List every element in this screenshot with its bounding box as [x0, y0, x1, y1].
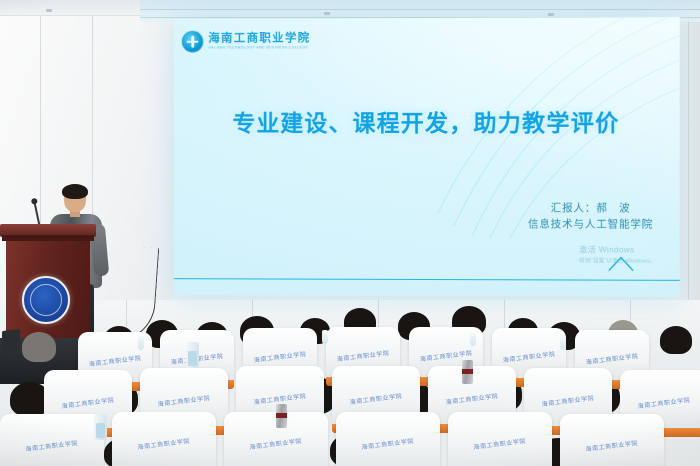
- org-name-en: HAI NAN TECHNOLOGY AND BUSINESS COLLEGE: [208, 46, 310, 50]
- seat-cover-text: 海南工商职业学院: [147, 391, 221, 409]
- water-bottle: [138, 336, 144, 350]
- podium-lip: [2, 235, 94, 241]
- wall-seam: [688, 16, 689, 316]
- audience-seat: 海南工商职业学院: [0, 414, 104, 466]
- water-bottle: [470, 332, 476, 346]
- ceiling-sprinkler-icon: [324, 12, 330, 15]
- ceiling-grid-line: [140, 9, 700, 10]
- screenshot-stage: 海南工商职业学院 HAI NAN TECHNOLOGY AND BUSINESS…: [0, 0, 700, 466]
- drinking-cup: [186, 342, 199, 368]
- slide-title: 专业建设、课程开发，助力教学评价: [174, 104, 680, 138]
- seat-cover-text: 海南工商职业学院: [531, 391, 605, 409]
- seat-cover-text: 海南工商职业学院: [456, 433, 544, 453]
- audience-seat: 海南工商职业学院: [448, 412, 552, 466]
- college-seal-icon: [182, 31, 204, 53]
- audience-seating: 海南工商职业学院海南工商职业学院海南工商职业学院海南工商职业学院海南工商职业学院…: [0, 296, 700, 466]
- thermos-flask: [462, 360, 473, 384]
- presenter-department: 信息技术与人工智能学院: [528, 216, 653, 233]
- slide-peak-icon: [609, 271, 627, 282]
- seat-cover-text: 海南工商职业学院: [344, 433, 432, 453]
- slide-presenter-block: 汇报人：郝 波 信息技术与人工智能学院: [528, 200, 653, 233]
- water-bottle: [322, 330, 328, 344]
- seat-cover-text: 海南工商职业学院: [84, 352, 147, 369]
- drinking-cup: [94, 414, 107, 440]
- seat-cover-text: 海南工商职业学院: [627, 393, 700, 411]
- audience-seat: 海南工商职业学院: [112, 412, 216, 466]
- slide-accent-rule: [174, 278, 680, 281]
- seat-cover-text: 海南工商职业学院: [51, 393, 125, 411]
- audience-seat: 海南工商职业学院: [560, 414, 664, 466]
- seat-cover-text: 海南工商职业学院: [232, 433, 320, 453]
- seat-cover-text: 海南工商职业学院: [498, 348, 561, 365]
- seat-cover-text: 海南工商职业学院: [249, 348, 312, 365]
- seat-cover-text: 海南工商职业学院: [581, 350, 644, 367]
- audience-person-head: [660, 326, 692, 354]
- seat-cover-text: 海南工商职业学院: [435, 389, 509, 407]
- audience-person-head: [22, 332, 56, 362]
- seat-cover-text: 海南工商职业学院: [332, 347, 395, 364]
- seat-cover-text: 海南工商职业学院: [339, 389, 413, 407]
- projection-screen: 海南工商职业学院 HAI NAN TECHNOLOGY AND BUSINESS…: [174, 17, 680, 297]
- org-name-cn: 海南工商职业学院: [208, 33, 310, 45]
- presenter-name: 汇报人：郝 波: [528, 200, 653, 217]
- seat-cover-text: 海南工商职业学院: [568, 435, 656, 455]
- audience-seat: 海南工商职业学院: [336, 412, 440, 466]
- ceiling-sprinkler-icon: [46, 9, 52, 12]
- ceiling-sprinkler-icon: [548, 13, 554, 16]
- watermark-line-1: 激活 Windows: [579, 244, 655, 255]
- thermos-flask: [276, 404, 287, 428]
- seat-cover-text: 海南工商职业学院: [120, 433, 208, 453]
- water-bottle: [560, 336, 566, 350]
- presenter-hair: [62, 184, 88, 199]
- seat-cover-text: 海南工商职业学院: [8, 435, 96, 455]
- slide-org-logo: 海南工商职业学院 HAI NAN TECHNOLOGY AND BUSINESS…: [182, 30, 311, 52]
